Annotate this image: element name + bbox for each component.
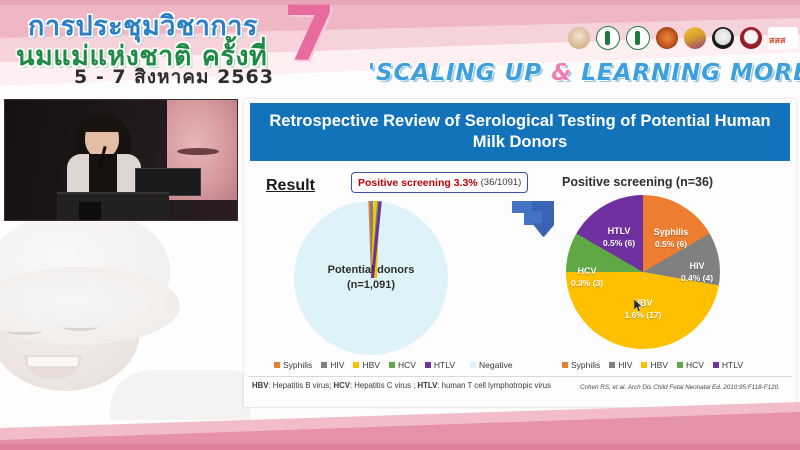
left-pie-label-line2: (n=1,091) (294, 278, 448, 293)
footer-bottom-edge (0, 444, 800, 450)
pie-label-hcv: HCV 0.3% (3) (560, 266, 614, 289)
legend-swatch-hbv (353, 362, 359, 368)
legend-item-hbv: HBV (353, 360, 379, 370)
legend-swatch-htlv (425, 362, 431, 368)
logo-pediatric-society-icon (712, 27, 734, 49)
pie-label-hiv-name: HIV (668, 261, 726, 273)
legend-label-hbv-right: HBV (650, 360, 667, 370)
footnote-htlv-key: HTLV (418, 381, 438, 390)
tagline-ampersand: & (551, 60, 572, 86)
podium (57, 192, 169, 221)
logo-royal-emblem-icon (684, 27, 706, 49)
pie-label-htlv: HTLV 0.5% (6) (590, 226, 648, 249)
legend-swatch-hiv-right (609, 362, 615, 368)
legend-swatch-hcv-right (677, 362, 683, 368)
tagline-part2: LEARNING MORE' (572, 60, 800, 86)
positive-screening-callout: Positive screening 3.3% (36/1091) (351, 172, 528, 193)
slide-title: Retrospective Review of Serological Test… (250, 103, 790, 161)
footnote-hbv-key: HBV (252, 381, 268, 390)
pie-label-syphilis: Syphilis 0.5% (6) (640, 227, 702, 250)
right-pie-legend: Syphilis HIV HBV HCV HTLV (562, 360, 743, 370)
legend-label-hiv: HIV (330, 360, 344, 370)
legend-label-hiv-right: HIV (618, 360, 632, 370)
legend-swatch-hiv (321, 362, 327, 368)
legend-item-htlv-right: HTLV (713, 360, 743, 370)
legend-swatch-negative (470, 362, 476, 368)
tagline-part1: 'SCALING UP (368, 60, 551, 86)
pie-label-hcv-name: HCV (560, 266, 614, 278)
legend-swatch-hcv (389, 362, 395, 368)
legend-label-negative: Negative (479, 360, 513, 370)
right-pie-title: Positive screening (n=36) (562, 175, 713, 189)
logo-thaihealth-sss-icon (768, 27, 798, 49)
logo-department-health-icon (626, 26, 650, 50)
legend-swatch-syphilis-right (562, 362, 568, 368)
background-child-photo (0, 205, 250, 420)
conference-tagline: 'SCALING UP & LEARNING MORE' (368, 60, 800, 86)
legend-swatch-hbv-right (641, 362, 647, 368)
logo-royal-college-icon (656, 27, 678, 49)
pie-label-syphilis-value: 0.5% (6) (655, 239, 687, 249)
logo-breastfeeding-foundation-icon (568, 27, 590, 49)
conference-edition-number: 7 (283, 0, 336, 72)
screen: การประชุมวิชาการ นมแม่แห่งชาติ ครั้งที่ … (0, 0, 800, 450)
legend-label-hcv: HCV (398, 360, 416, 370)
callout-note: (36/1091) (481, 177, 522, 188)
legend-label-syphilis: Syphilis (283, 360, 312, 370)
pie-label-hcv-value: 0.3% (3) (571, 278, 603, 288)
legend-item-hbv-right: HBV (641, 360, 667, 370)
pie-label-hbv: HBV 1.6% (17) (610, 298, 676, 321)
footnote-hcv-key: HCV (333, 381, 349, 390)
legend-label-hbv: HBV (362, 360, 379, 370)
sponsor-logo-row (568, 26, 798, 50)
left-pie-legend: Syphilis HIV HBV HCV HTLV Negative (274, 360, 513, 370)
legend-item-hcv: HCV (389, 360, 416, 370)
legend-item-hcv-right: HCV (677, 360, 704, 370)
legend-label-syphilis-right: Syphilis (571, 360, 600, 370)
left-pie-center-label: Potential donors (n=1,091) (294, 263, 448, 293)
legend-swatch-syphilis (274, 362, 280, 368)
photo-fade-overlay (0, 205, 250, 420)
pie-label-htlv-value: 0.5% (6) (603, 238, 635, 248)
left-pie-label-line1: Potential donors (294, 263, 448, 278)
legend-label-htlv-right: HTLV (722, 360, 743, 370)
legend-swatch-htlv-right (713, 362, 719, 368)
slide-citation: Cohen RS, et al. Arch Dis Child Fetal Ne… (580, 384, 780, 391)
legend-item-hiv: HIV (321, 360, 344, 370)
speaker-video-feed[interactable] (4, 99, 238, 221)
legend-item-syphilis-right: Syphilis (562, 360, 600, 370)
footnote-divider (248, 376, 792, 377)
presentation-slide: Retrospective Review of Serological Test… (244, 99, 796, 407)
pie-label-hiv: HIV 0.4% (4) (668, 261, 726, 284)
result-heading: Result (266, 177, 315, 195)
blue-arrow-icon (510, 199, 556, 239)
callout-key: Positive screening 3.3% (358, 177, 478, 189)
footnote-hcv-text: : Hepatitis C virus ; (350, 381, 418, 390)
legend-item-syphilis: Syphilis (274, 360, 312, 370)
pie-label-syphilis-name: Syphilis (640, 227, 702, 239)
legend-item-hiv-right: HIV (609, 360, 632, 370)
slide-footnote: HBV: Hepatitis B virus; HCV: Hepatitis C… (252, 381, 551, 390)
legend-item-negative: Negative (470, 360, 513, 370)
mouse-cursor-icon (634, 299, 643, 312)
logo-ministry-public-health-icon (596, 26, 620, 50)
legend-label-htlv: HTLV (434, 360, 455, 370)
speaker-hair-top (83, 114, 121, 132)
legend-label-hcv-right: HCV (686, 360, 704, 370)
footnote-htlv-text: : human T cell lymphotropic virus (437, 381, 551, 390)
pie-label-hbv-name: HBV (610, 298, 676, 310)
potential-donors-pie-chart: Potential donors (n=1,091) (294, 201, 448, 355)
conference-date: 5 - 7 สิงหาคม 2563 (74, 62, 274, 92)
pie-label-hiv-value: 0.4% (4) (681, 273, 713, 283)
pie-label-htlv-name: HTLV (590, 226, 648, 238)
legend-item-htlv: HTLV (425, 360, 455, 370)
footnote-hbv-text: : Hepatitis B virus; (268, 381, 333, 390)
logo-thai-medical-council-icon (740, 27, 762, 49)
